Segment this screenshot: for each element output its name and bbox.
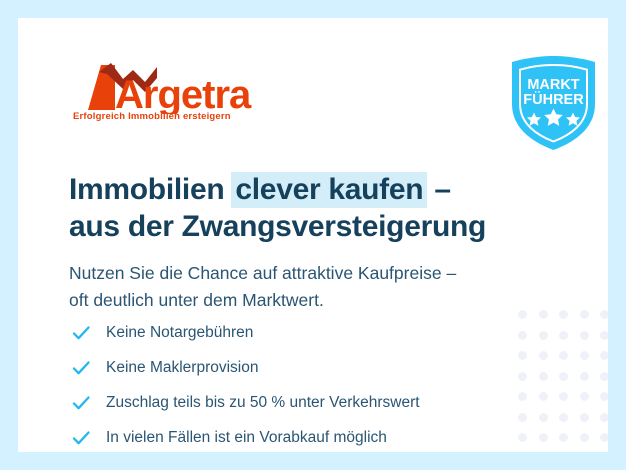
decoration-dot [600,310,608,319]
benefit-item: In vielen Fällen ist ein Vorabkauf mögli… [71,423,521,452]
benefit-label: In vielen Fällen ist ein Vorabkauf mögli… [106,428,387,448]
promo-banner: Argetra Erfolgreich Immobilien ersteiger… [0,0,626,470]
shield-badge-icon: MARKT FÜHRER [507,54,600,152]
decoration-dot [600,392,608,401]
logo-tagline: Erfolgreich Immobilien ersteigern [73,111,231,122]
decoration-dot [600,331,608,340]
benefit-label: Keine Notargebühren [106,323,253,343]
decoration-dot [559,372,568,381]
decoration-dot [580,310,589,319]
argetra-roof-a-icon: Argetra [71,62,271,114]
check-icon [71,358,91,378]
badge-line-2: FÜHRER [523,91,584,108]
decoration-dot [580,433,589,442]
check-icon [71,428,91,448]
headline-line-2: aus der Zwangsversteigerung [69,208,539,245]
decoration-dot [539,331,548,340]
headline-line-1: Immobilien clever kaufen – [69,171,539,208]
benefit-item: Keine Maklerprovision [71,353,521,383]
headline-text-pre: Immobilien [69,173,232,206]
subheading: Nutzen Sie die Chance auf attraktive Kau… [69,260,539,314]
badge-line-1: MARKT [527,77,579,93]
svg-text:Argetra: Argetra [115,73,252,114]
subheading-line-2: oft deutlich unter dem Marktwert. [69,287,539,314]
decoration-dot [580,392,589,401]
decoration-dot [580,331,589,340]
decoration-dot [580,413,589,422]
decoration-dot [539,433,548,442]
decoration-dot [600,372,608,381]
benefit-label: Keine Maklerprovision [106,358,259,378]
decoration-dot [539,372,548,381]
decoration-dot [600,433,608,442]
decoration-dot [559,351,568,360]
decoration-dot [539,310,548,319]
benefit-item: Zuschlag teils bis zu 50 % unter Verkehr… [71,388,521,418]
decoration-dot [539,392,548,401]
decoration-dot [559,433,568,442]
check-icon [71,393,91,413]
dot-grid-decoration [518,310,608,452]
headline-text-post: – [426,173,450,206]
argetra-logo[interactable]: Argetra Erfolgreich Immobilien ersteiger… [71,62,271,128]
banner-card: Argetra Erfolgreich Immobilien ersteiger… [18,18,608,452]
market-leader-badge: MARKT FÜHRER [507,54,600,152]
decoration-dot [559,392,568,401]
decoration-dot [559,413,568,422]
decoration-dot [600,413,608,422]
decoration-dot [600,351,608,360]
decoration-dot [580,351,589,360]
decoration-dot [559,331,568,340]
decoration-dot [580,372,589,381]
headline-highlight: clever kaufen [231,172,427,208]
decoration-dot [539,413,548,422]
benefits-checklist: Keine NotargebührenKeine Maklerprovision… [71,318,521,452]
check-icon [71,323,91,343]
decoration-dot [559,310,568,319]
headline: Immobilien clever kaufen – aus der Zwang… [69,171,539,245]
subheading-line-1: Nutzen Sie die Chance auf attraktive Kau… [69,260,539,287]
benefit-label: Zuschlag teils bis zu 50 % unter Verkehr… [106,393,420,413]
benefit-item: Keine Notargebühren [71,318,521,348]
decoration-dot [539,351,548,360]
